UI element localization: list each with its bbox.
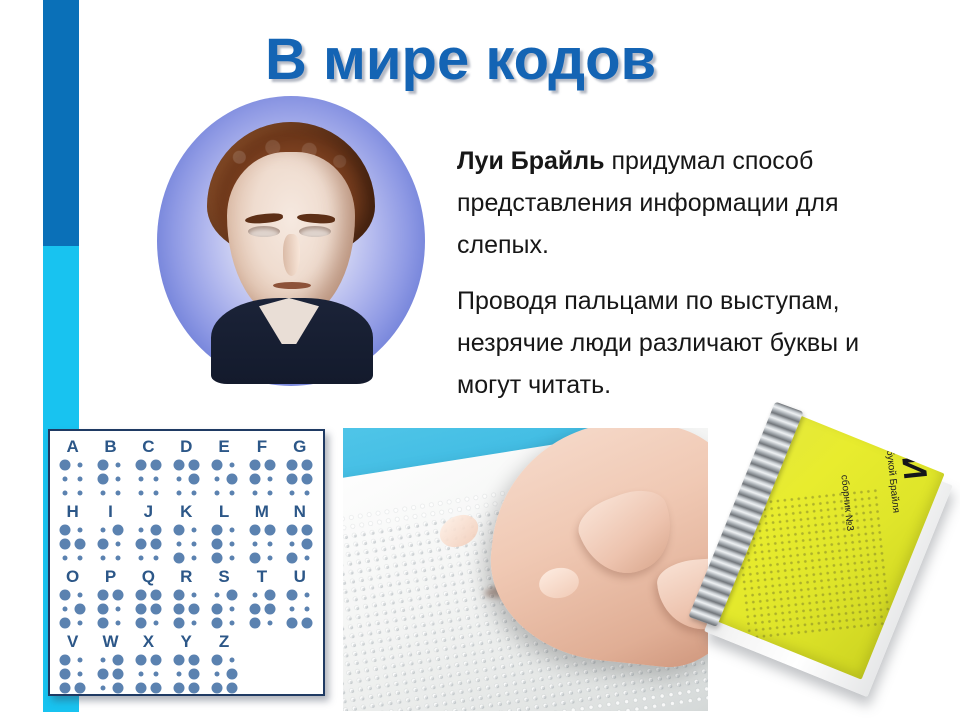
braille-cell-o: O <box>56 567 90 630</box>
braille-dot-flat <box>111 472 126 486</box>
braille-dot-grid <box>207 653 241 695</box>
braille-dot-flat <box>247 537 262 551</box>
braille-dot-flat <box>134 486 149 500</box>
braille-letter: C <box>132 437 166 457</box>
braille-dot-flat <box>224 523 239 537</box>
braille-dot-flat <box>111 486 126 500</box>
braille-dot-raised <box>134 602 149 616</box>
braille-dot-flat <box>73 472 88 486</box>
braille-dot-raised <box>300 523 315 537</box>
braille-dot-flat <box>134 667 149 681</box>
braille-dot-raised <box>149 537 164 551</box>
braille-letter: K <box>169 502 203 522</box>
braille-dot-raised <box>58 588 73 602</box>
portrait-louis-braille <box>157 96 425 386</box>
braille-dot-flat <box>186 616 201 630</box>
braille-cell-empty <box>283 632 317 695</box>
body-text: Луи Брайль придумал способ представления… <box>457 140 927 420</box>
braille-dot-raised <box>111 523 126 537</box>
braille-dot-raised <box>58 537 73 551</box>
braille-dot-raised <box>262 588 277 602</box>
braille-dot-raised <box>134 458 149 472</box>
braille-dot-raised <box>73 681 88 695</box>
braille-dot-raised <box>171 616 186 630</box>
braille-dot-raised <box>247 458 262 472</box>
braille-letter: P <box>94 567 128 587</box>
braille-dot-flat <box>262 486 277 500</box>
braille-cell-c: C <box>132 437 166 500</box>
braille-dot-flat <box>186 486 201 500</box>
braille-dot-flat <box>224 551 239 565</box>
braille-dot-flat <box>58 602 73 616</box>
braille-dot-raised <box>247 523 262 537</box>
braille-dot-grid <box>132 458 166 500</box>
braille-dot-raised <box>285 523 300 537</box>
braille-dot-grid <box>94 458 128 500</box>
braille-cell-n: N <box>283 502 317 565</box>
braille-dot-flat <box>300 588 315 602</box>
braille-dot-flat <box>73 486 88 500</box>
braille-dot-flat <box>134 472 149 486</box>
braille-dot-grid <box>283 523 317 565</box>
braille-cell-t: T <box>245 567 279 630</box>
braille-dot-flat <box>149 616 164 630</box>
braille-dot-raised <box>262 523 277 537</box>
braille-dot-flat <box>149 667 164 681</box>
braille-cell-empty <box>245 632 279 695</box>
braille-cell-x: X <box>132 632 166 695</box>
braille-dot-flat <box>111 551 126 565</box>
braille-dot-grid <box>207 588 241 630</box>
braille-dot-raised <box>96 588 111 602</box>
braille-dot-raised <box>300 472 315 486</box>
braille-dot-flat <box>285 486 300 500</box>
braille-letter: E <box>207 437 241 457</box>
braille-dot-grid <box>207 458 241 500</box>
braille-cell-k: K <box>169 502 203 565</box>
braille-cell-a: A <box>56 437 90 500</box>
braille-cell-v: V <box>56 632 90 695</box>
braille-dot-raised <box>285 458 300 472</box>
braille-dot-flat <box>171 667 186 681</box>
braille-cell-h: H <box>56 502 90 565</box>
braille-dot-flat <box>73 616 88 630</box>
braille-dot-raised <box>58 681 73 695</box>
braille-dot-flat <box>111 458 126 472</box>
braille-letter: W <box>94 632 128 652</box>
braille-dot-raised <box>224 472 239 486</box>
braille-cell-e: E <box>207 437 241 500</box>
braille-cell-j: J <box>132 502 166 565</box>
braille-letter: A <box>56 437 90 457</box>
paragraph-2: Проводя пальцами по выступам, незрячие л… <box>457 280 927 406</box>
portrait-figure <box>201 122 381 360</box>
braille-dot-flat <box>149 472 164 486</box>
braille-dot-flat <box>96 523 111 537</box>
braille-dot-raised <box>111 653 126 667</box>
braille-dot-raised <box>58 616 73 630</box>
braille-dot-flat <box>96 681 111 695</box>
braille-row: HIJKLMN <box>54 502 319 565</box>
braille-dot-raised <box>111 588 126 602</box>
braille-letter: M <box>245 502 279 522</box>
braille-dot-raised <box>149 681 164 695</box>
braille-letter: F <box>245 437 279 457</box>
braille-dot-flat <box>58 472 73 486</box>
braille-letter: S <box>207 567 241 587</box>
braille-letter: H <box>56 502 90 522</box>
braille-book: СКАЗКИ азбукой Брайля сборник №3 <box>722 428 954 680</box>
braille-dot-raised <box>262 458 277 472</box>
braille-dot-flat <box>224 653 239 667</box>
braille-dot-flat <box>285 537 300 551</box>
braille-dot-raised <box>209 458 224 472</box>
braille-letter: Z <box>207 632 241 652</box>
braille-dot-grid <box>245 588 279 630</box>
braille-dot-flat <box>262 537 277 551</box>
braille-letter: J <box>132 502 166 522</box>
braille-dot-raised <box>209 523 224 537</box>
braille-dot-flat <box>111 602 126 616</box>
braille-dot-flat <box>209 588 224 602</box>
braille-row: VWXYZ <box>54 632 319 695</box>
braille-dot-flat <box>111 537 126 551</box>
braille-dot-grid <box>94 588 128 630</box>
braille-letter: Q <box>132 567 166 587</box>
braille-dot-flat <box>73 458 88 472</box>
braille-dot-raised <box>111 667 126 681</box>
braille-dot-grid <box>245 523 279 565</box>
paragraph-1-bold: Луи Брайль <box>457 147 605 175</box>
braille-dot-grid <box>56 653 90 695</box>
braille-letter: O <box>56 567 90 587</box>
braille-dot-raised <box>96 667 111 681</box>
portrait-eye-right <box>299 226 331 237</box>
braille-dot-flat <box>209 472 224 486</box>
braille-dot-raised <box>300 458 315 472</box>
braille-letter: U <box>283 567 317 587</box>
braille-dot-raised <box>96 602 111 616</box>
braille-dot-raised <box>96 458 111 472</box>
braille-dot-raised <box>96 537 111 551</box>
braille-reading-photo <box>343 428 708 711</box>
braille-dot-raised <box>171 602 186 616</box>
book-rotation-wrapper: СКАЗКИ азбукой Брайля сборник №3 <box>700 409 949 686</box>
braille-dot-grid <box>283 588 317 630</box>
braille-dot-flat <box>58 551 73 565</box>
braille-letter: V <box>56 632 90 652</box>
slide-canvas: В мире кодов Луи Брайль придумал способ … <box>0 0 960 720</box>
braille-dot-raised <box>171 653 186 667</box>
braille-letter: G <box>283 437 317 457</box>
braille-dot-grid <box>94 523 128 565</box>
braille-dot-flat <box>171 472 186 486</box>
braille-dot-raised <box>134 588 149 602</box>
braille-dot-raised <box>149 653 164 667</box>
braille-dot-raised <box>209 537 224 551</box>
braille-dot-flat <box>224 537 239 551</box>
braille-dot-raised <box>96 616 111 630</box>
braille-letter: B <box>94 437 128 457</box>
braille-dot-raised <box>300 537 315 551</box>
braille-dot-grid <box>169 523 203 565</box>
braille-letter: R <box>169 567 203 587</box>
braille-cell-d: D <box>169 437 203 500</box>
braille-dot-flat <box>73 588 88 602</box>
braille-cell-m: M <box>245 502 279 565</box>
braille-alphabet-chart: ABCDEFGHIJKLMNOPQRSTUVWXYZ <box>48 429 325 696</box>
braille-dot-grid <box>207 523 241 565</box>
braille-dot-flat <box>171 537 186 551</box>
braille-dot-flat <box>186 588 201 602</box>
braille-dot-flat <box>300 551 315 565</box>
braille-dot-raised <box>247 551 262 565</box>
braille-dot-flat <box>247 588 262 602</box>
braille-dot-raised <box>285 588 300 602</box>
braille-letter: D <box>169 437 203 457</box>
braille-dot-raised <box>149 602 164 616</box>
portrait-mouth <box>273 282 311 289</box>
braille-dot-raised <box>134 537 149 551</box>
braille-dot-raised <box>224 681 239 695</box>
braille-dot-grid <box>56 458 90 500</box>
braille-dot-flat <box>262 472 277 486</box>
braille-dot-flat <box>262 551 277 565</box>
braille-dot-raised <box>73 537 88 551</box>
braille-cell-q: Q <box>132 567 166 630</box>
braille-dot-flat <box>73 523 88 537</box>
braille-dot-raised <box>58 653 73 667</box>
braille-dot-raised <box>262 602 277 616</box>
braille-cell-l: L <box>207 502 241 565</box>
braille-dot-flat <box>111 616 126 630</box>
braille-dot-raised <box>186 602 201 616</box>
braille-cell-i: I <box>94 502 128 565</box>
braille-dot-flat <box>285 602 300 616</box>
braille-dot-raised <box>186 458 201 472</box>
braille-dot-raised <box>247 472 262 486</box>
braille-dot-flat <box>224 602 239 616</box>
braille-dot-flat <box>209 667 224 681</box>
braille-dot-flat <box>96 551 111 565</box>
braille-cell-r: R <box>169 567 203 630</box>
paragraph-1: Луи Брайль придумал способ представления… <box>457 140 927 266</box>
braille-dot-flat <box>73 551 88 565</box>
braille-dot-raised <box>134 653 149 667</box>
braille-dot-raised <box>186 681 201 695</box>
page-title: В мире кодов <box>265 26 905 93</box>
braille-dot-raised <box>58 523 73 537</box>
braille-dot-raised <box>171 588 186 602</box>
portrait-nose <box>283 234 300 276</box>
braille-dot-raised <box>134 681 149 695</box>
braille-dot-flat <box>73 667 88 681</box>
braille-letter: T <box>245 567 279 587</box>
braille-dot-raised <box>149 523 164 537</box>
braille-letter: I <box>94 502 128 522</box>
braille-dot-raised <box>58 458 73 472</box>
braille-dot-grid <box>56 523 90 565</box>
braille-dot-grid <box>56 588 90 630</box>
braille-dot-flat <box>96 653 111 667</box>
braille-cell-p: P <box>94 567 128 630</box>
braille-dot-flat <box>224 616 239 630</box>
braille-dot-grid <box>132 523 166 565</box>
braille-cell-f: F <box>245 437 279 500</box>
braille-dot-flat <box>96 486 111 500</box>
braille-cell-w: W <box>94 632 128 695</box>
braille-dot-raised <box>247 602 262 616</box>
braille-dot-raised <box>111 681 126 695</box>
braille-dot-flat <box>262 616 277 630</box>
braille-dot-flat <box>58 486 73 500</box>
braille-row: ABCDEFG <box>54 437 319 500</box>
braille-cell-b: B <box>94 437 128 500</box>
braille-dot-grid <box>169 653 203 695</box>
braille-dot-raised <box>285 472 300 486</box>
braille-dot-grid <box>169 458 203 500</box>
braille-dot-flat <box>247 486 262 500</box>
braille-dot-raised <box>149 588 164 602</box>
braille-dot-flat <box>186 523 201 537</box>
braille-dot-flat <box>149 551 164 565</box>
braille-dot-raised <box>58 667 73 681</box>
braille-dot-grid <box>169 588 203 630</box>
braille-dot-raised <box>73 602 88 616</box>
sidebar-bar-dark <box>43 0 79 246</box>
braille-dot-raised <box>209 551 224 565</box>
braille-dot-grid <box>132 653 166 695</box>
braille-dot-flat <box>73 653 88 667</box>
braille-dot-raised <box>209 653 224 667</box>
braille-dot-flat <box>224 486 239 500</box>
braille-dot-flat <box>209 486 224 500</box>
braille-dot-grid <box>245 458 279 500</box>
braille-dot-flat <box>300 486 315 500</box>
braille-dot-flat <box>186 537 201 551</box>
portrait-eye-left <box>248 226 280 237</box>
braille-cell-u: U <box>283 567 317 630</box>
braille-dot-flat <box>134 523 149 537</box>
braille-dot-raised <box>134 616 149 630</box>
braille-dot-raised <box>149 458 164 472</box>
braille-letter: X <box>132 632 166 652</box>
braille-dot-grid <box>283 458 317 500</box>
braille-letter: Y <box>169 632 203 652</box>
braille-dot-flat <box>224 458 239 472</box>
braille-dot-raised <box>186 653 201 667</box>
braille-letter: N <box>283 502 317 522</box>
braille-dot-raised <box>224 667 239 681</box>
braille-dot-raised <box>224 588 239 602</box>
braille-dot-raised <box>209 681 224 695</box>
braille-dot-flat <box>171 486 186 500</box>
braille-dot-raised <box>171 551 186 565</box>
braille-dot-raised <box>96 472 111 486</box>
braille-dot-raised <box>171 523 186 537</box>
braille-dot-raised <box>209 616 224 630</box>
braille-dot-raised <box>186 667 201 681</box>
braille-letter: L <box>207 502 241 522</box>
braille-dot-raised <box>285 616 300 630</box>
braille-dot-grid <box>132 588 166 630</box>
braille-dot-flat <box>134 551 149 565</box>
braille-dot-flat <box>149 486 164 500</box>
braille-dot-raised <box>186 472 201 486</box>
braille-dot-raised <box>171 458 186 472</box>
braille-dot-grid <box>94 653 128 695</box>
braille-dot-raised <box>247 616 262 630</box>
braille-row: OPQRSTU <box>54 567 319 630</box>
braille-dot-raised <box>300 616 315 630</box>
braille-dot-raised <box>171 681 186 695</box>
braille-dot-flat <box>300 602 315 616</box>
braille-dot-flat <box>186 551 201 565</box>
braille-cell-y: Y <box>169 632 203 695</box>
braille-dot-raised <box>285 551 300 565</box>
braille-dot-raised <box>209 602 224 616</box>
braille-cell-z: Z <box>207 632 241 695</box>
braille-cell-s: S <box>207 567 241 630</box>
braille-cell-g: G <box>283 437 317 500</box>
